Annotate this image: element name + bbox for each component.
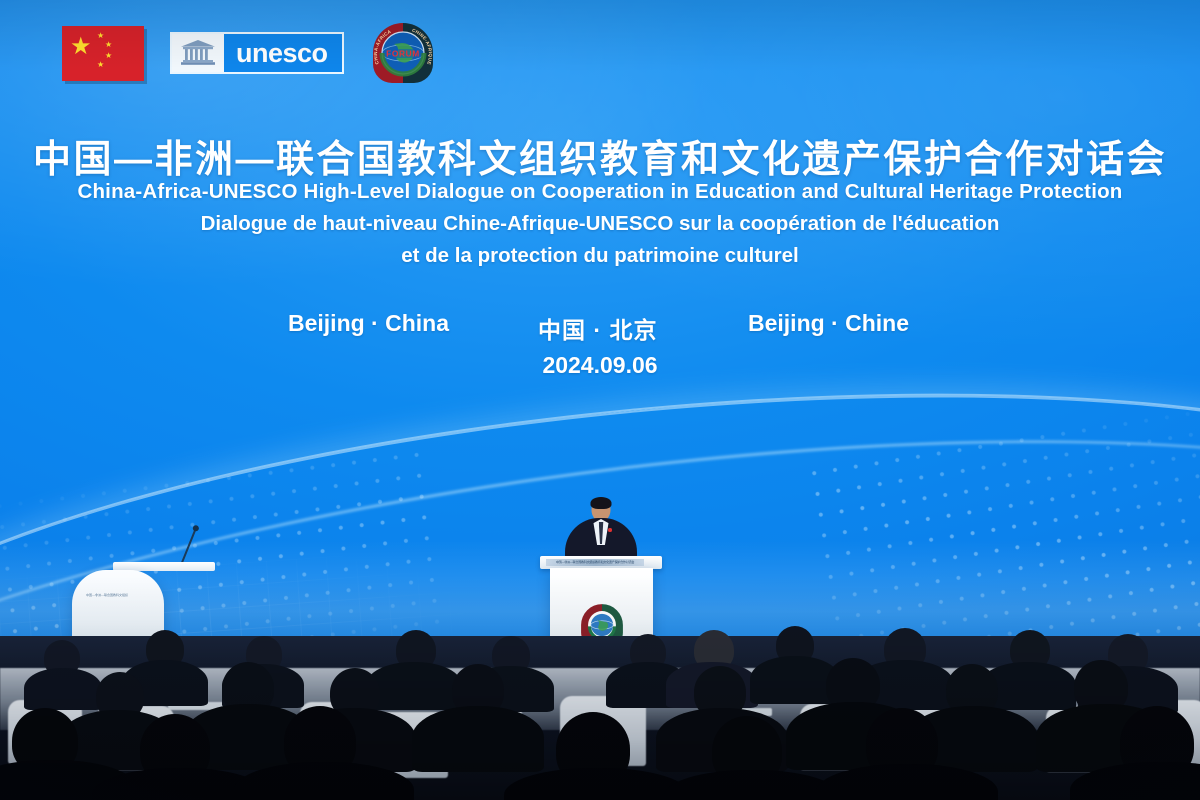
conference-photo: ★ ★ ★ ★ ★ xyxy=(0,0,1200,800)
speaker-at-podium xyxy=(563,498,639,560)
flag-star-small-2: ★ xyxy=(105,41,112,49)
place-english: Beijing · China xyxy=(288,310,449,337)
lectern-nameplate: 中国—非洲—联合国教科文组织 xyxy=(86,592,150,597)
china-africa-forum-logo: FORUM CHINA-AFRICA CHINE-AFRIQUE xyxy=(370,20,436,86)
place-row: Beijing · China 中国 · 北京 Beijing · Chine xyxy=(0,310,1200,344)
place-chinese: 中国 · 北京 xyxy=(538,311,657,345)
flag-star-small-4: ★ xyxy=(97,61,104,69)
flag-star-small-3: ★ xyxy=(105,52,112,60)
event-date: 2024.09.06 xyxy=(0,352,1200,379)
title-english: China-Africa-UNESCO High-Level Dialogue … xyxy=(0,180,1200,204)
unesco-temple-icon xyxy=(172,34,224,72)
title-french-line-1: Dialogue de haut-niveau Chine-Afrique-UN… xyxy=(0,212,1200,236)
podium-nameplate: 中国—非洲—联合国教科文组织教育和文化遗产保护合作对话会 xyxy=(546,559,644,566)
logo-row: ★ ★ ★ ★ ★ xyxy=(62,20,436,86)
audience-shoulders xyxy=(366,662,462,710)
flag-star-large: ★ xyxy=(70,35,92,59)
title-chinese: 中国—非洲—联合国教科文组织教育和文化遗产保护合作对话会 xyxy=(0,128,1200,183)
unesco-logo: unesco xyxy=(170,32,344,74)
svg-text:FORUM: FORUM xyxy=(386,49,420,59)
title-french-line-2: et de la protection du patrimoine cultur… xyxy=(0,244,1200,268)
china-flag-icon: ★ ★ ★ ★ ★ xyxy=(62,26,144,81)
place-french: Beijing · Chine xyxy=(748,310,909,337)
audience-shoulders xyxy=(412,706,544,772)
speaker-lapel-pin xyxy=(608,528,612,532)
flag-star-small-1: ★ xyxy=(97,32,104,40)
audience-shoulders xyxy=(24,668,102,710)
speaker-hair xyxy=(591,497,612,509)
unesco-wordmark: unesco xyxy=(224,40,342,67)
